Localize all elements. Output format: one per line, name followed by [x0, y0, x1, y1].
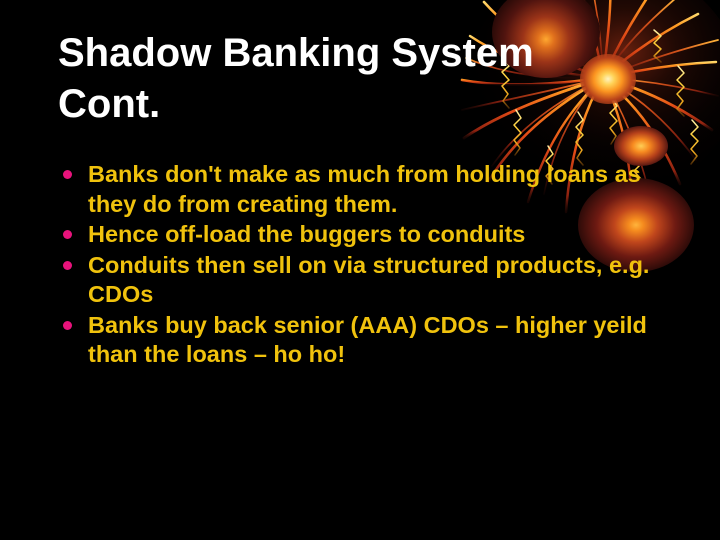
bullet-item-text: Hence off-load the buggers to conduits: [88, 220, 658, 250]
slide-body-bullet-list: Banks don't make as much from holding lo…: [58, 160, 658, 371]
bullet-item-text: Banks don't make as much from holding lo…: [88, 160, 658, 219]
bullet-item-text: Conduits then sell on via structured pro…: [88, 251, 658, 310]
bullet-dot-icon: [63, 230, 72, 239]
bullet-item: Banks buy back senior (AAA) CDOs – highe…: [58, 311, 658, 370]
slide-title-line-2: Cont.: [58, 79, 678, 130]
presentation-slide: Shadow Banking System Cont. Banks don't …: [0, 0, 720, 540]
bullet-item: Banks don't make as much from holding lo…: [58, 160, 658, 219]
bullet-dot-icon: [63, 170, 72, 179]
bullet-item: Conduits then sell on via structured pro…: [58, 251, 658, 310]
bullet-item: Hence off-load the buggers to conduits: [58, 220, 658, 250]
slide-title-line-1: Shadow Banking System: [58, 28, 678, 79]
bullet-item-text: Banks buy back senior (AAA) CDOs – highe…: [88, 311, 658, 370]
bullet-dot-icon: [63, 261, 72, 270]
slide-title: Shadow Banking System Cont.: [58, 28, 678, 130]
bullet-dot-icon: [63, 321, 72, 330]
